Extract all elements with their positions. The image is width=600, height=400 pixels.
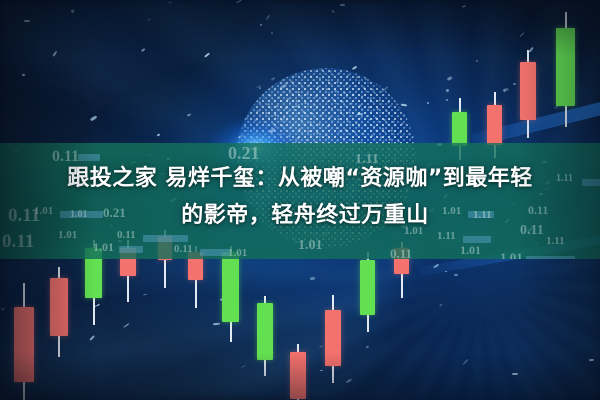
price-number: 1.01 xyxy=(460,243,481,258)
data-bar xyxy=(143,235,188,242)
candlestick-1 xyxy=(14,283,34,400)
candle-body xyxy=(257,303,273,360)
price-number: 1.11 xyxy=(546,235,565,247)
price-number: 0.11 xyxy=(174,243,193,255)
title-line-1: 跟投之家 易烊千玺：从被嘲“资源咖”到最年轻 xyxy=(0,160,600,197)
candle-body xyxy=(556,28,575,106)
data-bar xyxy=(200,249,230,256)
candle-body xyxy=(452,112,467,146)
candle-body xyxy=(290,352,306,399)
candle-body xyxy=(487,105,502,145)
price-number: 0.11 xyxy=(390,246,412,259)
page-title: 跟投之家 易烊千玺：从被嘲“资源咖”到最年轻 的影帝，轻舟终过万重山 xyxy=(0,160,600,234)
title-line-2: 的影帝，轻舟终过万重山 xyxy=(0,197,600,234)
candlestick-10 xyxy=(325,295,341,383)
candlestick-15 xyxy=(520,50,536,138)
candlestick-8 xyxy=(257,296,273,376)
candlestick-16 xyxy=(556,12,575,127)
candlestick-2 xyxy=(50,267,68,357)
price-number: 1.01 xyxy=(93,240,114,255)
data-bar xyxy=(119,246,143,253)
data-bar xyxy=(526,256,575,259)
data-bar xyxy=(463,236,491,243)
banner-image: 0.110.110.111.011.011.011.010.210.210.11… xyxy=(0,0,600,400)
candle-body xyxy=(14,307,34,382)
price-number: 0.11 xyxy=(2,231,34,253)
candle-body xyxy=(325,310,341,366)
candle-body xyxy=(222,252,239,322)
price-number: 1.01 xyxy=(228,247,247,259)
price-number: 1.01 xyxy=(500,250,523,259)
candlestick-11 xyxy=(360,252,375,332)
candlestick-7 xyxy=(222,246,239,342)
candle-body xyxy=(50,278,68,336)
candle-body xyxy=(360,260,375,315)
price-number: 1.01 xyxy=(298,238,323,254)
candle-body xyxy=(520,62,536,120)
candlestick-9 xyxy=(290,344,306,400)
